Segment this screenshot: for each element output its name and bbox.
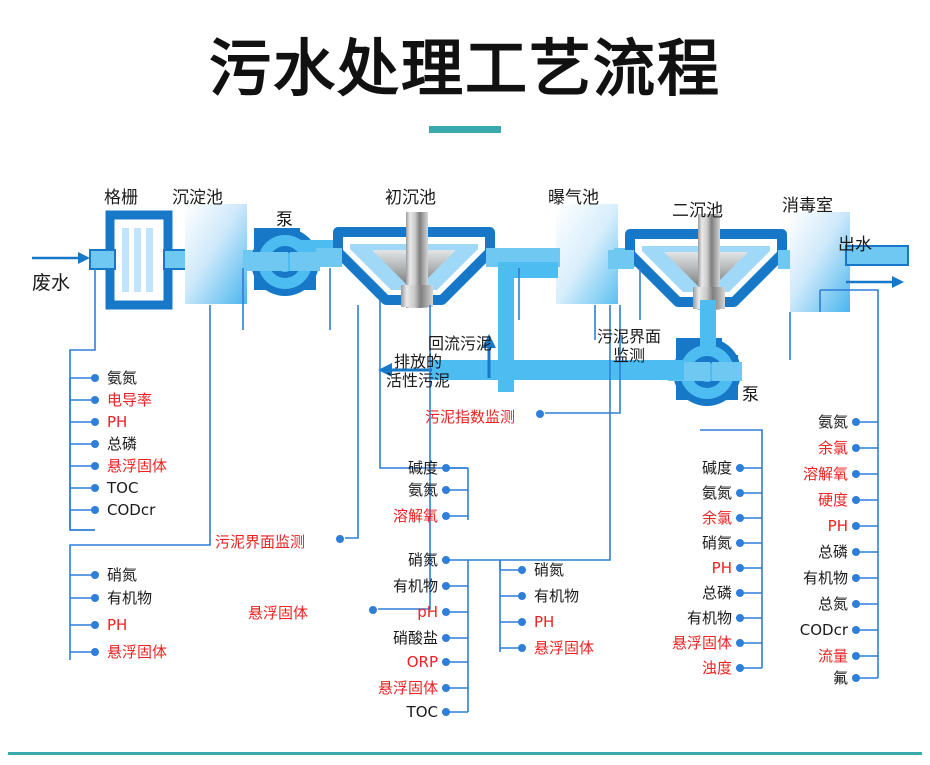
measurement-item: PH: [646, 561, 732, 576]
bullet-dot: [736, 614, 744, 622]
equipment-label-primary-clarifier: 初沉池: [385, 183, 436, 208]
bullet-dot: [442, 684, 450, 692]
measurement-item: PH: [762, 519, 848, 534]
bullet-dot: [442, 556, 450, 564]
bullet-dot: [442, 512, 450, 520]
callout-sludge-interface-monitor: 污泥界面监测: [215, 531, 305, 552]
bullet-dot: [852, 652, 860, 660]
sludge-interface-monitor-label: 污泥界面 监测: [588, 327, 670, 365]
measurement-item: 悬浮固体: [107, 459, 167, 474]
equipment-label-pump-2: 泵: [742, 380, 759, 405]
bullet-dot: [736, 514, 744, 522]
bullet-dot: [736, 489, 744, 497]
measurement-item: 硝氮: [107, 568, 137, 583]
bullet-dot: [518, 566, 526, 574]
measurement-item: CODcr: [762, 623, 848, 638]
bullet-dot: [852, 574, 860, 582]
bullet-dot: [91, 418, 99, 426]
measurement-item: 溶解氧: [352, 509, 438, 524]
bullet-dot: [442, 464, 450, 472]
measurement-item: TOC: [352, 705, 438, 720]
callout-suspended-solids: 悬浮固体: [248, 602, 308, 623]
bullet-dot: [736, 639, 744, 647]
equipment-label-settling-tank: 沉淀池: [172, 183, 223, 208]
bullet-dot: [91, 440, 99, 448]
measurement-item: 氨氮: [646, 486, 732, 501]
bullet-dot: [442, 634, 450, 642]
measurement-item: 氨氮: [352, 483, 438, 498]
bullet-dot: [518, 618, 526, 626]
bullet-dot: [518, 592, 526, 600]
measurement-item: 电导率: [107, 393, 152, 408]
bullet-dot: [852, 600, 860, 608]
measurement-item: PH: [534, 615, 554, 630]
equipment-label-pump-1: 泵: [276, 205, 293, 230]
bullet-dot: [852, 522, 860, 530]
measurement-item: 碱度: [352, 461, 438, 476]
measurement-item: 硝酸盐: [352, 631, 438, 646]
callout-dot-sludge-index: [536, 410, 544, 418]
measurement-item: CODcr: [107, 503, 155, 518]
effluent-label: 出水: [838, 230, 872, 255]
measurement-item: 余氯: [646, 511, 732, 526]
bullet-dot: [442, 582, 450, 590]
measurement-item: 有机物: [762, 571, 848, 586]
measurement-item: 硝氮: [646, 536, 732, 551]
measurement-item: 余氯: [762, 441, 848, 456]
process-diagram: 污水处理工艺流程: [0, 0, 930, 765]
measurement-item: 有机物: [352, 579, 438, 594]
bullet-dot: [91, 594, 99, 602]
bullet-dot: [442, 608, 450, 616]
bullet-dot: [852, 444, 860, 452]
measurement-item: 悬浮固体: [534, 641, 594, 656]
bullet-dot: [91, 621, 99, 629]
measurement-item: 浊度: [646, 661, 732, 676]
bullet-dot: [852, 496, 860, 504]
bullet-dot: [736, 464, 744, 472]
measurement-item: 总磷: [107, 437, 137, 452]
bullet-dot: [91, 571, 99, 579]
measurement-item: 悬浮固体: [646, 636, 732, 651]
measurement-item: 流量: [762, 649, 848, 664]
equipment-label-aeration-tank: 曝气池: [548, 183, 599, 208]
measurement-item: 硝氮: [534, 563, 564, 578]
return-sludge-text: 回流污泥: [428, 334, 492, 353]
waste-sludge-line-2: 活性污泥: [378, 371, 458, 390]
bullet-dot: [852, 470, 860, 478]
bullet-dot: [91, 396, 99, 404]
bullet-dot: [442, 486, 450, 494]
callout-dot-sludge-interface: [336, 535, 344, 543]
measurement-item: 有机物: [646, 611, 732, 626]
measurement-item: 硝氮: [352, 553, 438, 568]
measurement-item: 悬浮固体: [352, 681, 438, 696]
measurement-item: 氟: [762, 671, 848, 686]
measurement-item: ORP: [352, 655, 438, 670]
measurement-item: PH: [107, 618, 127, 633]
measurement-item: 硬度: [762, 493, 848, 508]
equipment-label-secondary-clarifier: 二沉池: [672, 196, 723, 221]
equipment-label-bar-screen: 格栅: [104, 183, 138, 208]
bullet-dot: [852, 626, 860, 634]
measurement-item: 有机物: [107, 591, 152, 606]
bullet-dot: [852, 674, 860, 682]
measurement-item: 碱度: [646, 461, 732, 476]
bullet-dot: [91, 462, 99, 470]
bullet-dot: [91, 374, 99, 382]
bullet-dot: [442, 658, 450, 666]
influent-label: 废水: [32, 268, 70, 295]
bullet-dot: [852, 418, 860, 426]
bullet-dot: [736, 664, 744, 672]
measurement-item: 悬浮固体: [107, 645, 167, 660]
measurement-item: PH: [107, 415, 127, 430]
measurement-item: 总氮: [762, 597, 848, 612]
measurement-item: 溶解氧: [762, 467, 848, 482]
measurement-item: 总磷: [646, 586, 732, 601]
sludge-interface-line-2: 监测: [588, 346, 670, 365]
waste-sludge-line-1: 排放的: [378, 352, 458, 371]
bullet-dot: [736, 539, 744, 547]
equipment-label-disinfection-room: 消毒室: [782, 191, 833, 216]
measurement-item: TOC: [107, 481, 138, 496]
measurement-item: 氨氮: [107, 371, 137, 386]
sludge-interface-line-1: 污泥界面: [588, 327, 670, 346]
bullet-dot: [518, 644, 526, 652]
bullet-dot: [91, 648, 99, 656]
bullet-dot: [852, 548, 860, 556]
measurement-item: pH: [352, 605, 438, 620]
callout-sludge-index-monitor: 污泥指数监测: [425, 406, 515, 427]
waste-sludge-label: 排放的 活性污泥: [378, 352, 458, 390]
measurement-item: 总磷: [762, 545, 848, 560]
measurement-item: 氨氮: [762, 415, 848, 430]
bullet-dot: [736, 589, 744, 597]
bullet-dot: [736, 564, 744, 572]
measurement-item: 有机物: [534, 589, 579, 604]
bullet-dot: [91, 506, 99, 514]
return-sludge-label: 回流污泥: [428, 330, 492, 354]
bullet-dot: [91, 484, 99, 492]
bullet-dot: [442, 708, 450, 716]
